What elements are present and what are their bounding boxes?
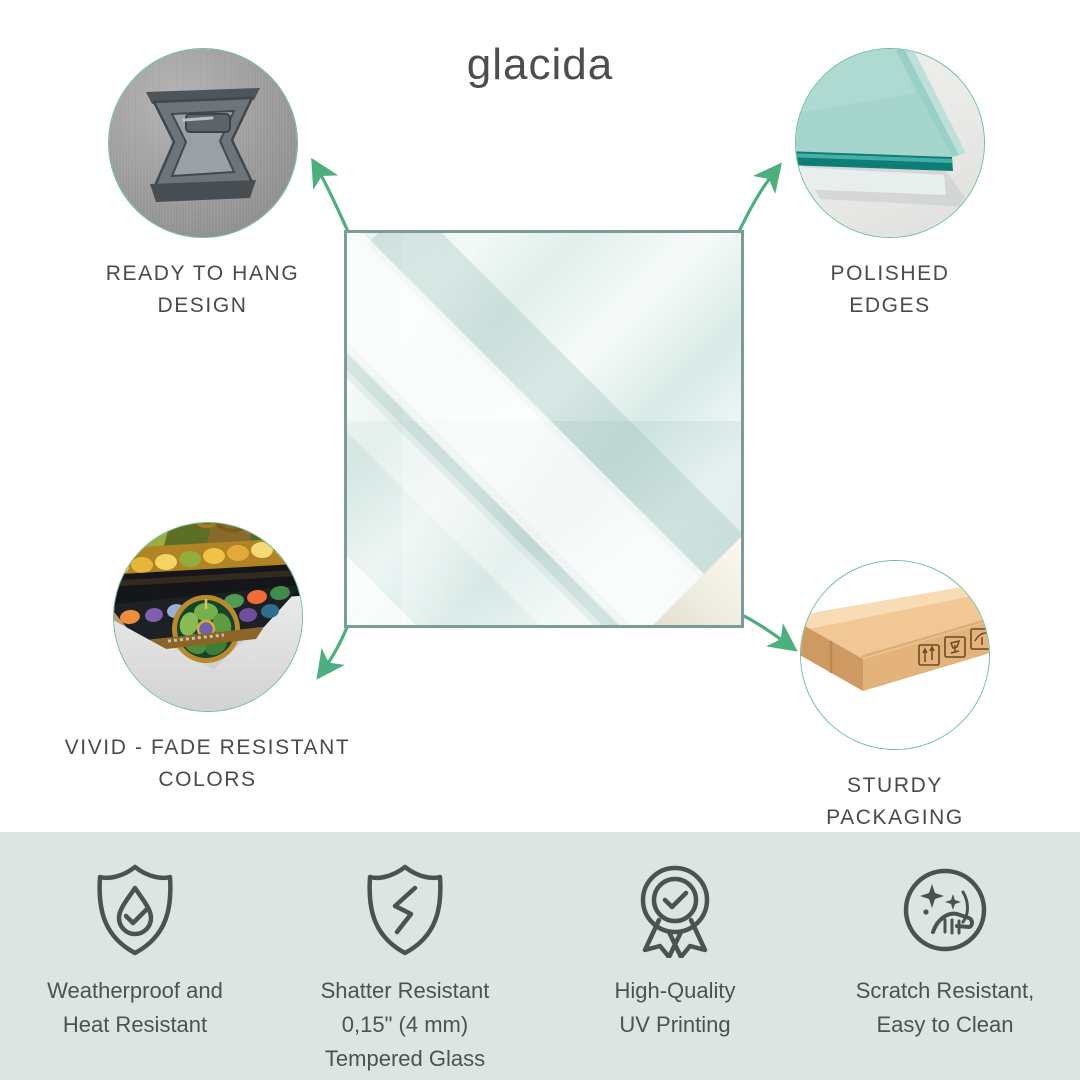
feature-sturdy-packaging: STURDY PACKAGING: [800, 560, 990, 833]
stained-glass-art-icon: [114, 523, 302, 711]
arrow-to-polished-edges: [736, 170, 776, 238]
sturdy-packaging-image: [800, 560, 990, 750]
bar-text-weatherproof: Weatherproof and Heat Resistant: [47, 974, 223, 1042]
feature-polished-edges: POLISHED EDGES: [795, 48, 985, 321]
shield-droplet-check-icon: [89, 862, 181, 958]
bar-text-uv-printing: High-Quality UV Printing: [614, 974, 735, 1042]
feature-ready-to-hang: READY TO HANG DESIGN: [108, 48, 305, 321]
bar-item-uv-printing: High-Quality UV Printing: [540, 832, 810, 1080]
cardboard-box-icon: [801, 561, 989, 749]
bar-text-shatter-resistant: Shatter Resistant 0,15" (4 mm) Tempered …: [321, 974, 490, 1076]
bar-item-weatherproof: Weatherproof and Heat Resistant: [0, 832, 270, 1080]
polished-edges-image: [795, 48, 985, 238]
feature-vivid-colors: VIVID - FADE RESISTANT COLORS: [113, 522, 370, 795]
arrow-to-ready-to-hang: [316, 166, 352, 240]
bar-item-scratch-resistant: Scratch Resistant, Easy to Clean: [810, 832, 1080, 1080]
award-ribbon-check-icon: [629, 862, 721, 958]
feature-bar: Weatherproof and Heat Resistant Shatter …: [0, 832, 1080, 1080]
glass-edge-icon: [796, 49, 984, 237]
vivid-colors-label: VIVID - FADE RESISTANT COLORS: [45, 732, 370, 795]
shield-lightning-icon: [359, 862, 451, 958]
ready-to-hang-label: READY TO HANG DESIGN: [100, 258, 305, 321]
polished-edges-label: POLISHED EDGES: [795, 258, 985, 321]
bar-item-shatter-resistant: Shatter Resistant 0,15" (4 mm) Tempered …: [270, 832, 540, 1080]
infographic-canvas: glacida: [0, 0, 1080, 1080]
sparkle-wiping-hand-icon: [899, 862, 991, 958]
hanging-bracket-icon: [128, 78, 278, 208]
vivid-colors-image: [113, 522, 303, 712]
bar-text-scratch-resistant: Scratch Resistant, Easy to Clean: [856, 974, 1035, 1042]
sturdy-packaging-label: STURDY PACKAGING: [800, 770, 990, 833]
ready-to-hang-image: [108, 48, 298, 238]
glass-panel: [344, 230, 744, 628]
